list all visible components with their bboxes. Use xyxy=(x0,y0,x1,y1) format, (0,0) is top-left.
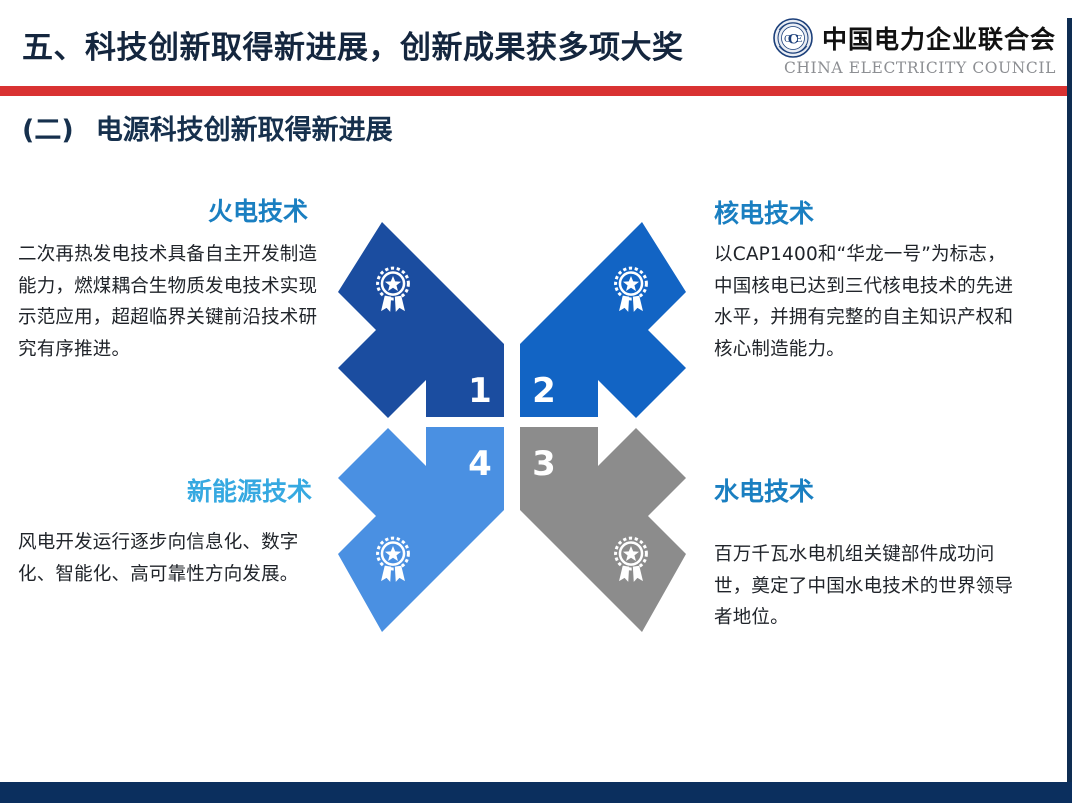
arrow-number-3: 3 xyxy=(532,444,556,484)
block-body-nuclear: 以CAP1400和“华龙一号”为标志，中国核电已达到三代核电技术的先进水平，并拥… xyxy=(714,239,1014,366)
logo-name-cn: 中国电力企业联合会 xyxy=(822,20,1056,56)
arrow-4-newenergy: 4 xyxy=(338,427,504,632)
logo-name-en: CHINA ELECTRICITY COUNCIL xyxy=(784,59,1056,77)
arrow-number-4: 4 xyxy=(468,444,492,484)
slide-right-edge xyxy=(1067,0,1072,803)
block-body-hydro: 百万千瓦水电机组关键部件成功问世，奠定了中国水电技术的世界领导者地位。 xyxy=(714,539,1014,634)
page-title: 五、科技创新取得新进展，创新成果获多项大奖 xyxy=(22,22,684,67)
arrow-number-2: 2 xyxy=(532,371,556,411)
arrow-3-hydro: 3 xyxy=(520,427,686,632)
arrow-1-thermal: 1 xyxy=(338,222,504,418)
block-title-nuclear: 核电技术 xyxy=(714,200,1014,229)
svg-text:C: C xyxy=(784,35,791,45)
block-nuclear: 核电技术 以CAP1400和“华龙一号”为标志，中国核电已达到三代核电技术的先进… xyxy=(714,200,1014,366)
slide: 五、科技创新取得新进展，创新成果获多项大奖 C C E 中国电力企业联合会 CH… xyxy=(0,0,1072,803)
arrow-number-1: 1 xyxy=(468,371,492,411)
block-body-newenergy: 风电开发运行逐步向信息化、数字化、智能化、高可靠性方向发展。 xyxy=(18,527,318,591)
svg-text:E: E xyxy=(796,35,803,45)
footer-bar xyxy=(0,782,1072,803)
slide-right-edge-gap xyxy=(1067,0,1072,18)
header-red-rule xyxy=(0,86,1072,96)
arrow-2-nuclear: 2 xyxy=(520,222,686,418)
section-index: (二) xyxy=(22,115,74,146)
organization-logo: C C E 中国电力企业联合会 CHINA ELECTRICITY COUNCI… xyxy=(773,18,1056,77)
section-title: 电源科技创新取得新进展 xyxy=(96,115,393,146)
section-heading: (二)电源科技创新取得新进展 xyxy=(22,108,393,147)
block-newenergy: 新能源技术 风电开发运行逐步向信息化、数字化、智能化、高可靠性方向发展。 xyxy=(18,478,318,590)
cec-seal-icon: C C E xyxy=(773,18,813,58)
block-title-newenergy: 新能源技术 xyxy=(18,478,318,507)
block-hydro: 水电技术 百万千瓦水电机组关键部件成功问世，奠定了中国水电技术的世界领导者地位。 xyxy=(714,478,1014,634)
block-title-thermal: 火电技术 xyxy=(18,198,318,227)
x-arrow-diagram: 1 2 xyxy=(338,222,686,632)
block-title-hydro: 水电技术 xyxy=(714,478,1014,507)
block-body-thermal: 二次再热发电技术具备自主开发制造能力，燃煤耦合生物质发电技术实现示范应用，超超临… xyxy=(18,239,318,366)
block-thermal: 火电技术 二次再热发电技术具备自主开发制造能力，燃煤耦合生物质发电技术实现示范应… xyxy=(18,198,318,366)
